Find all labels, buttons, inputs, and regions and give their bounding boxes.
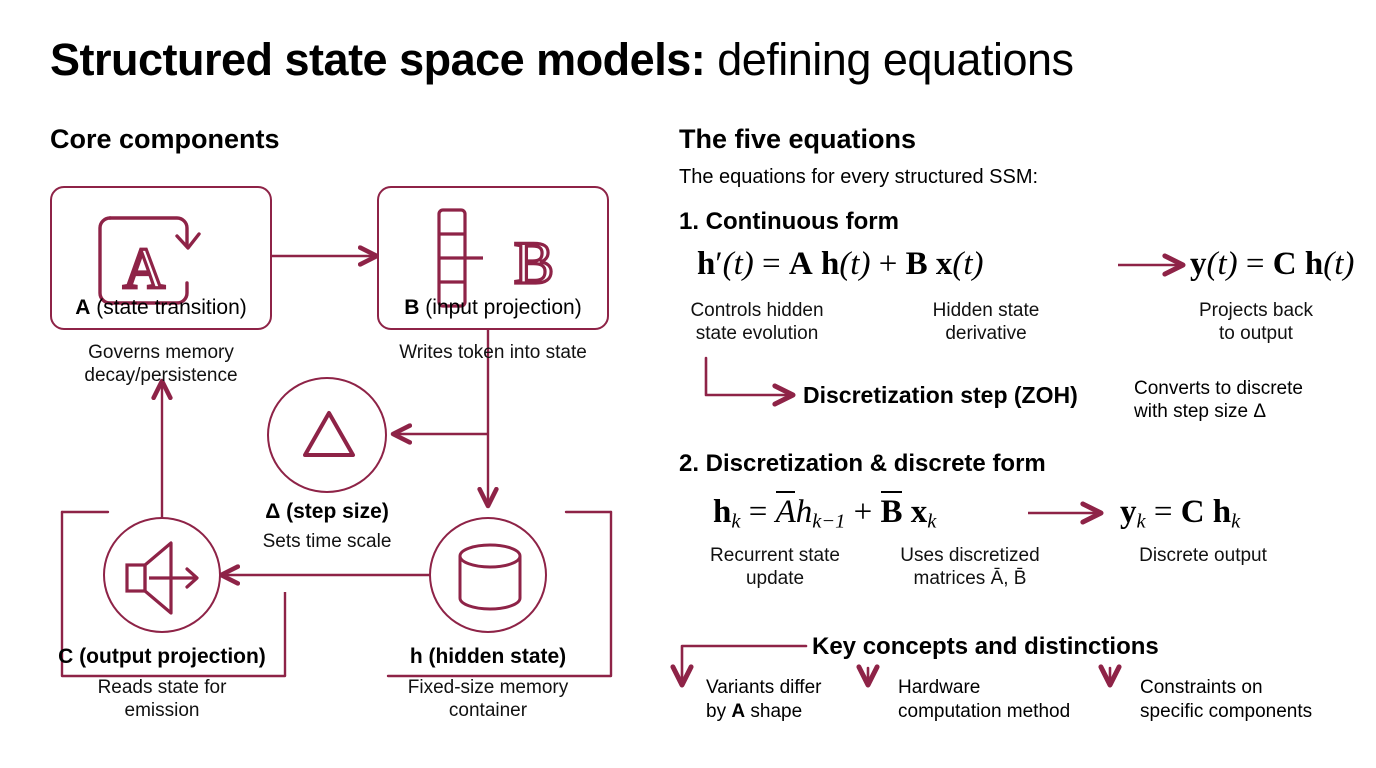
triangle-delta-icon bbox=[269, 379, 389, 495]
node-a-box[interactable]: A A (state transition) bbox=[50, 186, 272, 330]
equation-1-left: h′(t) = A h(t) + B x(t) bbox=[697, 246, 984, 283]
node-delta-symbol: Δ bbox=[265, 500, 280, 523]
node-h-circle[interactable] bbox=[429, 517, 547, 633]
key-concept-item-3: Constraints on specific components bbox=[1140, 676, 1360, 724]
node-b-caption: Writes token into state bbox=[377, 341, 609, 364]
node-delta-label-rest: (step size) bbox=[280, 500, 389, 523]
node-h-caption: Fixed-size memory container bbox=[370, 676, 606, 722]
node-b-symbol: B bbox=[404, 296, 419, 319]
arrow-hook-discretization bbox=[706, 358, 792, 395]
node-c-caption: Reads state for emission bbox=[30, 676, 294, 722]
key-item-1-line1: Variants differ bbox=[706, 676, 856, 700]
node-delta-circle[interactable] bbox=[267, 377, 387, 493]
key-concept-item-2: Hardware computation method bbox=[898, 676, 1108, 724]
annot-2-2-line2: matrices Ā, B̄ bbox=[884, 568, 1056, 591]
svg-text:B: B bbox=[514, 230, 554, 296]
equation-2-annotation-1: Recurrent state update bbox=[694, 545, 856, 591]
node-c-caption-line2: emission bbox=[30, 699, 294, 722]
section-2-heading: 2. Discretization & discrete form bbox=[679, 450, 1046, 478]
equation-1-annotation-2: Hidden state derivative bbox=[906, 300, 1066, 346]
node-delta-caption: Sets time scale bbox=[207, 530, 447, 553]
annot-2-1-line2: update bbox=[694, 568, 856, 591]
node-c-label: C (output projection) bbox=[30, 645, 294, 669]
node-h-label-rest: (hidden state) bbox=[423, 645, 567, 668]
key-concept-item-1: Variants differ by A shape bbox=[706, 676, 856, 724]
annot-1-2-line1: Hidden state bbox=[906, 300, 1066, 323]
node-a-symbol: A bbox=[75, 296, 90, 319]
discretization-step-label: Discretization step (ZOH) bbox=[803, 382, 1078, 409]
annot-1-2-line2: derivative bbox=[906, 323, 1066, 346]
node-a-label-rest: (state transition) bbox=[90, 296, 246, 319]
key-concepts-title: Key concepts and distinctions bbox=[812, 633, 1159, 661]
svg-text:A: A bbox=[123, 236, 165, 301]
core-components-diagram: A A (state transition) Governs memory de… bbox=[0, 0, 670, 768]
key-item-2-line1: Hardware bbox=[898, 676, 1108, 700]
node-h-caption-line2: container bbox=[370, 699, 606, 722]
equation-2-annotation-2: Uses discretized matrices Ā, B̄ bbox=[884, 545, 1056, 591]
discretization-note-line1: Converts to discrete bbox=[1134, 378, 1303, 401]
equation-2-right: yk = C hk bbox=[1120, 494, 1240, 534]
node-b-box[interactable]: B B (input projection) bbox=[377, 186, 609, 330]
node-c-label-rest: (output projection) bbox=[73, 645, 265, 668]
annot-1-3-line1: Projects back bbox=[1176, 300, 1336, 323]
annot-1-1-line2: state evolution bbox=[679, 323, 835, 346]
node-a-caption-line2: decay/persistence bbox=[50, 364, 272, 387]
node-a-label: A (state transition) bbox=[52, 296, 270, 320]
node-c-symbol: C bbox=[58, 645, 73, 668]
node-c-caption-line1: Reads state for bbox=[30, 676, 294, 699]
key-item-3-line1: Constraints on bbox=[1140, 676, 1360, 700]
annot-2-2-line1: Uses discretized bbox=[884, 545, 1056, 568]
section-1-heading: 1. Continuous form bbox=[679, 208, 899, 236]
slide-canvas: Structured state space models: defining … bbox=[0, 0, 1376, 768]
key-item-3-line2: specific components bbox=[1140, 700, 1360, 724]
node-a-caption-line1: Governs memory bbox=[50, 341, 272, 364]
node-b-label: B (input projection) bbox=[379, 296, 607, 320]
node-h-caption-line1: Fixed-size memory bbox=[370, 676, 606, 699]
equation-2-left: hk = Ahk−1 + B xk bbox=[713, 494, 936, 534]
node-delta-caption-line1: Sets time scale bbox=[207, 530, 447, 553]
key-item-1-post: shape bbox=[745, 701, 802, 722]
equation-2-annotation-3: Discrete output bbox=[1108, 545, 1298, 568]
node-b-label-rest: (input projection) bbox=[419, 296, 581, 319]
key-item-1-pre: by bbox=[706, 701, 731, 722]
annot-2-3-line1: Discrete output bbox=[1108, 545, 1298, 568]
node-delta-label: Δ (step size) bbox=[207, 500, 447, 524]
discretization-note-line2: with step size Δ bbox=[1134, 401, 1303, 424]
key-item-1-line2: by A shape bbox=[706, 700, 856, 724]
node-h-label: h (hidden state) bbox=[370, 645, 606, 669]
key-item-1-bold: A bbox=[731, 701, 745, 722]
node-c-circle[interactable] bbox=[103, 517, 221, 633]
node-b-caption-line1: Writes token into state bbox=[377, 341, 609, 364]
annot-1-3-line2: to output bbox=[1176, 323, 1336, 346]
node-a-caption: Governs memory decay/persistence bbox=[50, 341, 272, 387]
database-cylinder-icon bbox=[431, 519, 549, 635]
key-item-2-line2: computation method bbox=[898, 700, 1108, 724]
annot-1-1-line1: Controls hidden bbox=[679, 300, 835, 323]
equation-1-right: y(t) = C h(t) bbox=[1190, 246, 1354, 283]
discretization-note: Converts to discrete with step size Δ bbox=[1134, 378, 1303, 424]
speaker-output-icon bbox=[105, 519, 223, 635]
equation-1-annotation-3: Projects back to output bbox=[1176, 300, 1336, 346]
annot-2-1-line1: Recurrent state bbox=[694, 545, 856, 568]
equation-1-annotation-1: Controls hidden state evolution bbox=[679, 300, 835, 346]
node-h-symbol: h bbox=[410, 645, 423, 668]
